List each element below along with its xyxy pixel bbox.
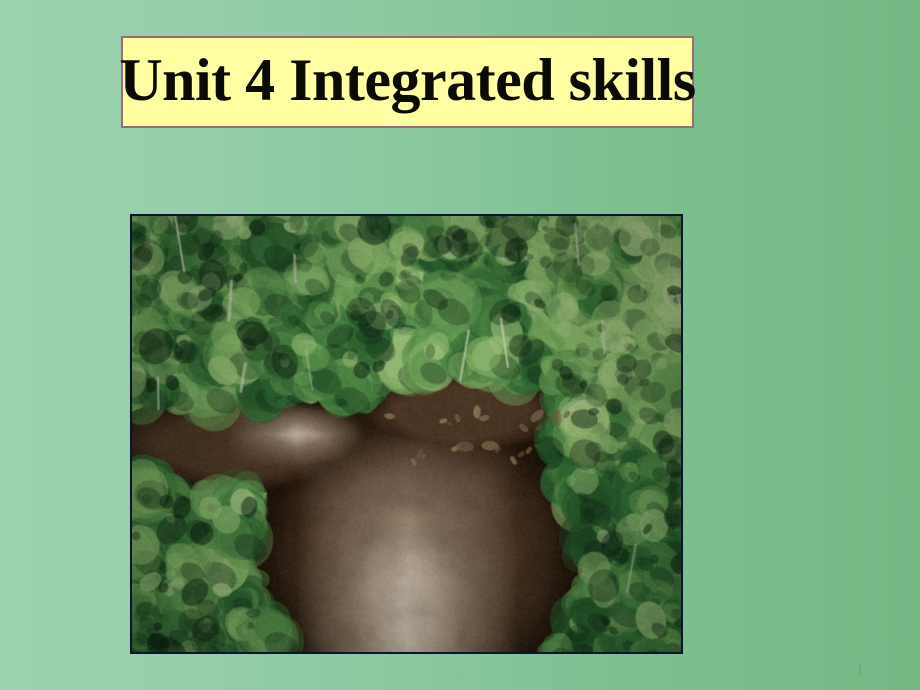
rainforest-photo-canvas [132,216,681,652]
slide-page-number: 1 [853,658,867,680]
title-textbox[interactable]: Unit 4 Integrated skills [121,36,694,128]
page-title: Unit 4 Integrated skills [119,50,695,114]
footer-dot: . [458,666,467,677]
slide-canvas: Unit 4 Integrated skills . 1 [0,0,920,690]
rainforest-photo[interactable] [130,214,683,654]
